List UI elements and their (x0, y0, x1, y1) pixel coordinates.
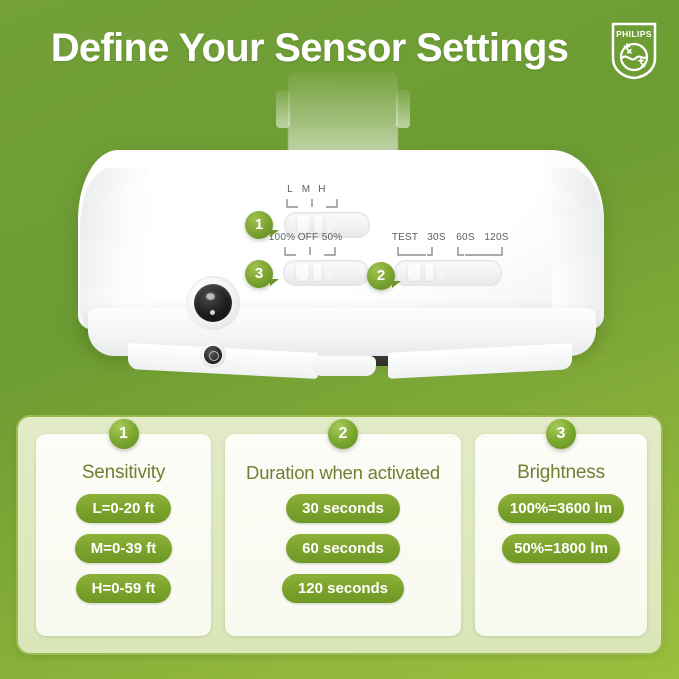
callout-1: 1 (245, 211, 273, 239)
sensitivity-switch-knob-left[interactable] (297, 215, 310, 233)
duration-switch-knob-right[interactable] (425, 263, 434, 281)
callout-3: 3 (245, 260, 273, 288)
brightness-switch-knob-right[interactable] (313, 263, 322, 281)
motion-lens (194, 284, 232, 322)
pill-sensitivity-low[interactable]: L=0-20 ft (76, 494, 170, 523)
brightness-switch-labels: 100%OFF50% (268, 232, 344, 243)
card-sensitivity-title: Sensitivity (36, 462, 211, 484)
duration-switch-labels: TEST30S60S120S (388, 232, 513, 243)
service-port-glyph-icon (209, 351, 219, 361)
card-duration: 2 Duration when activated 30 seconds 60 … (225, 434, 461, 636)
brightness-switch-knob-left[interactable] (296, 263, 309, 281)
card-sensitivity: 1 Sensitivity L=0-20 ft M=0-39 ft H=0-59… (36, 434, 211, 636)
duration-switch-arrow-icon (439, 263, 451, 281)
callout-2: 2 (367, 262, 395, 290)
pill-sensitivity-medium[interactable]: M=0-39 ft (75, 534, 172, 563)
sensitivity-switch-ticks (285, 198, 339, 210)
sensitivity-switch-labels: LMH (282, 184, 342, 195)
sensor-settings-infographic: Define Your Sensor Settings PHILIPS (0, 0, 679, 679)
svg-text:PHILIPS: PHILIPS (616, 29, 652, 39)
page-title: Define Your Sensor Settings (0, 28, 679, 68)
mount-bracket-right-ear (396, 90, 410, 128)
pill-duration-60s[interactable]: 60 seconds (286, 534, 400, 563)
sensitivity-switch-knob-right[interactable] (314, 215, 323, 233)
card-brightness: 3 Brightness 100%=3600 lm 50%=1800 lm (475, 434, 647, 636)
card-brightness-badge: 3 (546, 419, 576, 449)
brightness-switch-ticks (283, 246, 337, 258)
sensor-device-photo: LMH 100%OFF50% (0, 72, 679, 402)
pill-brightness-100[interactable]: 100%=3600 lm (498, 494, 624, 523)
pill-duration-30s[interactable]: 30 seconds (286, 494, 400, 523)
duration-switch-ticks (396, 246, 504, 258)
card-duration-title: Duration when activated (225, 462, 461, 484)
card-duration-options: 30 seconds 60 seconds 120 seconds (225, 494, 461, 603)
card-brightness-title: Brightness (475, 462, 647, 484)
brightness-switch-arrow-icon (327, 263, 339, 281)
duration-switch-knob-left[interactable] (408, 263, 421, 281)
sensitivity-switch-arrow-icon (328, 215, 340, 233)
motion-lens-glint (206, 293, 215, 300)
card-sensitivity-options: L=0-20 ft M=0-39 ft H=0-59 ft (36, 494, 211, 603)
card-duration-badge: 2 (328, 419, 358, 449)
motion-lens-dot (210, 310, 215, 315)
card-brightness-options: 100%=3600 lm 50%=1800 lm (475, 494, 647, 563)
pill-brightness-50[interactable]: 50%=1800 lm (502, 534, 620, 563)
pill-duration-120s[interactable]: 120 seconds (282, 574, 404, 603)
settings-panel: 1 Sensitivity L=0-20 ft M=0-39 ft H=0-59… (16, 415, 663, 655)
sensor-bottom-plate-center (312, 356, 376, 376)
card-sensitivity-badge: 1 (109, 419, 139, 449)
pill-sensitivity-high[interactable]: H=0-59 ft (76, 574, 172, 603)
